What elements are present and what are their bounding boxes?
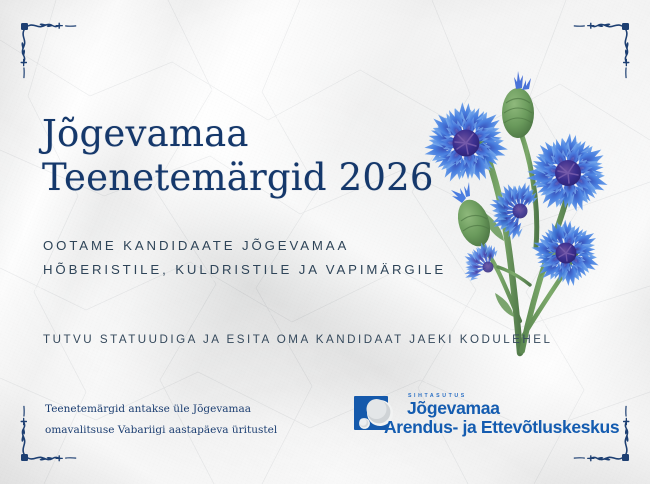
poster-call-to-action: TUTVU STATUUDIGA JA ESITA OMA KANDIDAAT …: [43, 333, 552, 346]
poster-subtitle: OOTAME KANDIDAATE JÕGEVAMAA HÕBERISTILE,…: [43, 234, 446, 281]
corner-flourish-top-left-icon: [18, 20, 80, 82]
jaek-logo[interactable]: SIHTASUTUS Jõgevamaa Arendus- ja Ettevõt…: [352, 392, 619, 438]
logo-name-line2: Arendus- ja Ettevõtluskeskus: [384, 418, 619, 436]
jaek-logo-wordmark: SIHTASUTUS Jõgevamaa Arendus- ja Ettevõt…: [406, 393, 619, 436]
logo-name-line1: Jõgevamaa: [407, 400, 619, 418]
corner-flourish-top-right-icon: [570, 20, 632, 82]
page-title: Jõgevamaa Teenetemärgid 2026: [42, 112, 434, 199]
poster-canvas: Jõgevamaa Teenetemärgid 2026 OOTAME KAND…: [0, 0, 650, 484]
poster-footnote: Teenetemärgid antakse üle Jõgevamaa omav…: [45, 399, 325, 441]
